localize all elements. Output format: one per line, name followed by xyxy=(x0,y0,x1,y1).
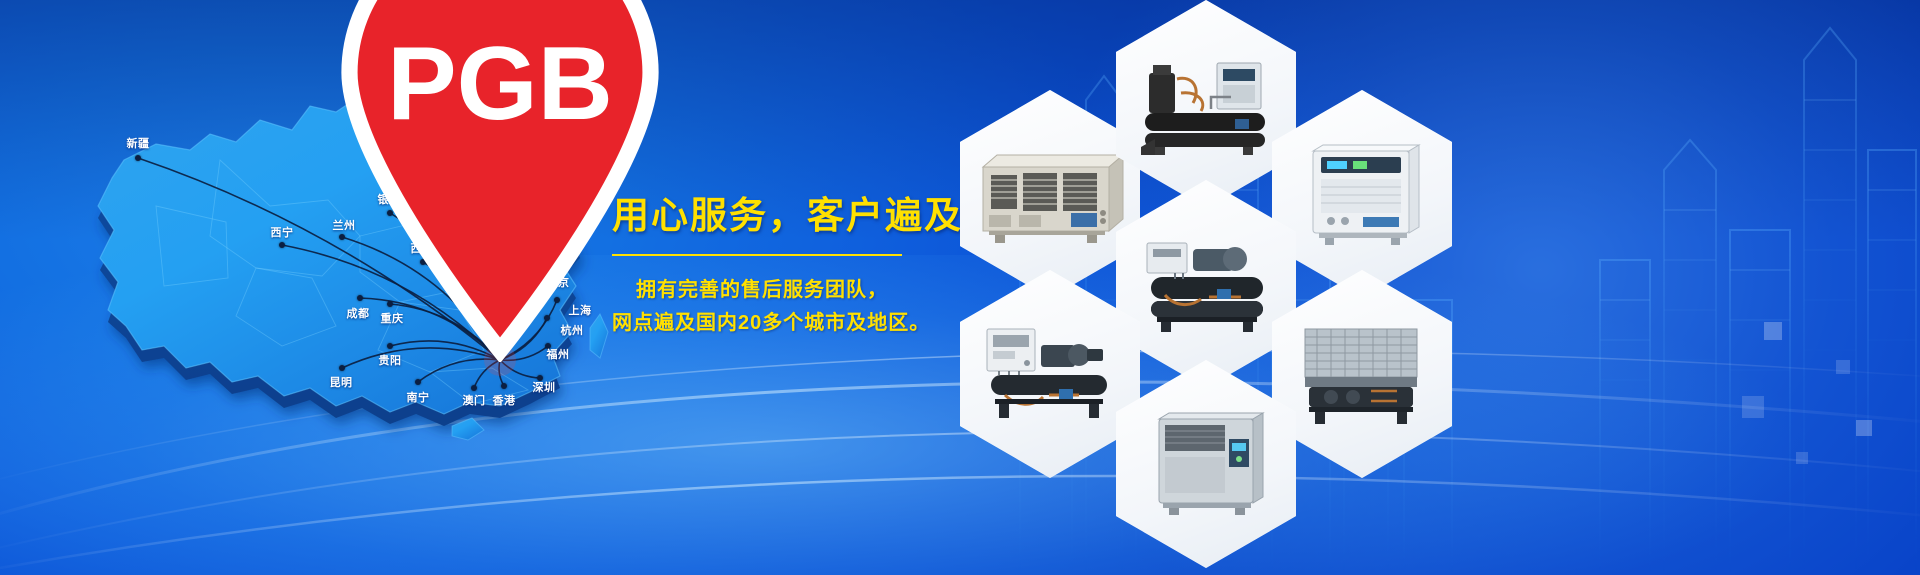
hex-product-cabinet-type-chiller[interactable] xyxy=(1116,360,1296,568)
chiller-photo-4 xyxy=(1131,229,1281,339)
chiller-photo-6 xyxy=(1287,319,1437,429)
decor-square xyxy=(1742,396,1764,418)
chiller-photo-7 xyxy=(1131,409,1281,519)
chiller-photo-3 xyxy=(1287,139,1437,249)
hub-location-marker[interactable]: PGB xyxy=(180,0,820,362)
china-map: 新疆哈尔滨长春沈阳大连呼和浩特北京天津银川太原兰州西宁西安郑州济南合肥南京上海杭… xyxy=(60,10,700,450)
hex-product-air-cooled-box-chiller[interactable] xyxy=(960,90,1140,298)
map-city-dot[interactable] xyxy=(339,365,345,371)
decor-square xyxy=(1836,360,1850,374)
map-city-dot[interactable] xyxy=(471,385,477,391)
map-city-label[interactable]: 新疆 xyxy=(127,135,150,151)
chiller-photo-5 xyxy=(975,319,1125,429)
hex-product-open-type-condensing-unit[interactable] xyxy=(960,270,1140,478)
hub-marker-label: PGB xyxy=(387,26,613,142)
decor-square xyxy=(1764,322,1782,340)
map-city-dot[interactable] xyxy=(415,379,421,385)
chiller-photo-2 xyxy=(1131,49,1281,159)
hex-product-industrial-water-chiller[interactable] xyxy=(1272,90,1452,298)
map-city-label[interactable]: 深圳 xyxy=(533,379,556,395)
map-city-label[interactable]: 澳门 xyxy=(463,392,486,408)
map-city-dot[interactable] xyxy=(135,155,141,161)
map-city-label[interactable]: 南宁 xyxy=(407,389,430,405)
decor-square xyxy=(1796,452,1808,464)
product-hex-cluster xyxy=(960,0,1520,575)
decor-square xyxy=(1856,420,1872,436)
map-city-dot[interactable] xyxy=(501,383,507,389)
hex-product-water-cooled-screw-chiller[interactable] xyxy=(1116,0,1296,208)
hex-product-screw-compressor-unit[interactable] xyxy=(1116,180,1296,388)
map-city-label[interactable]: 香港 xyxy=(493,392,516,408)
chiller-photo-1 xyxy=(975,139,1125,249)
hex-product-air-cooled-condenser-unit[interactable] xyxy=(1272,270,1452,478)
map-city-label[interactable]: 昆明 xyxy=(330,374,353,390)
promo-banner: 新疆哈尔滨长春沈阳大连呼和浩特北京天津银川太原兰州西宁西安郑州济南合肥南京上海杭… xyxy=(0,0,1920,575)
